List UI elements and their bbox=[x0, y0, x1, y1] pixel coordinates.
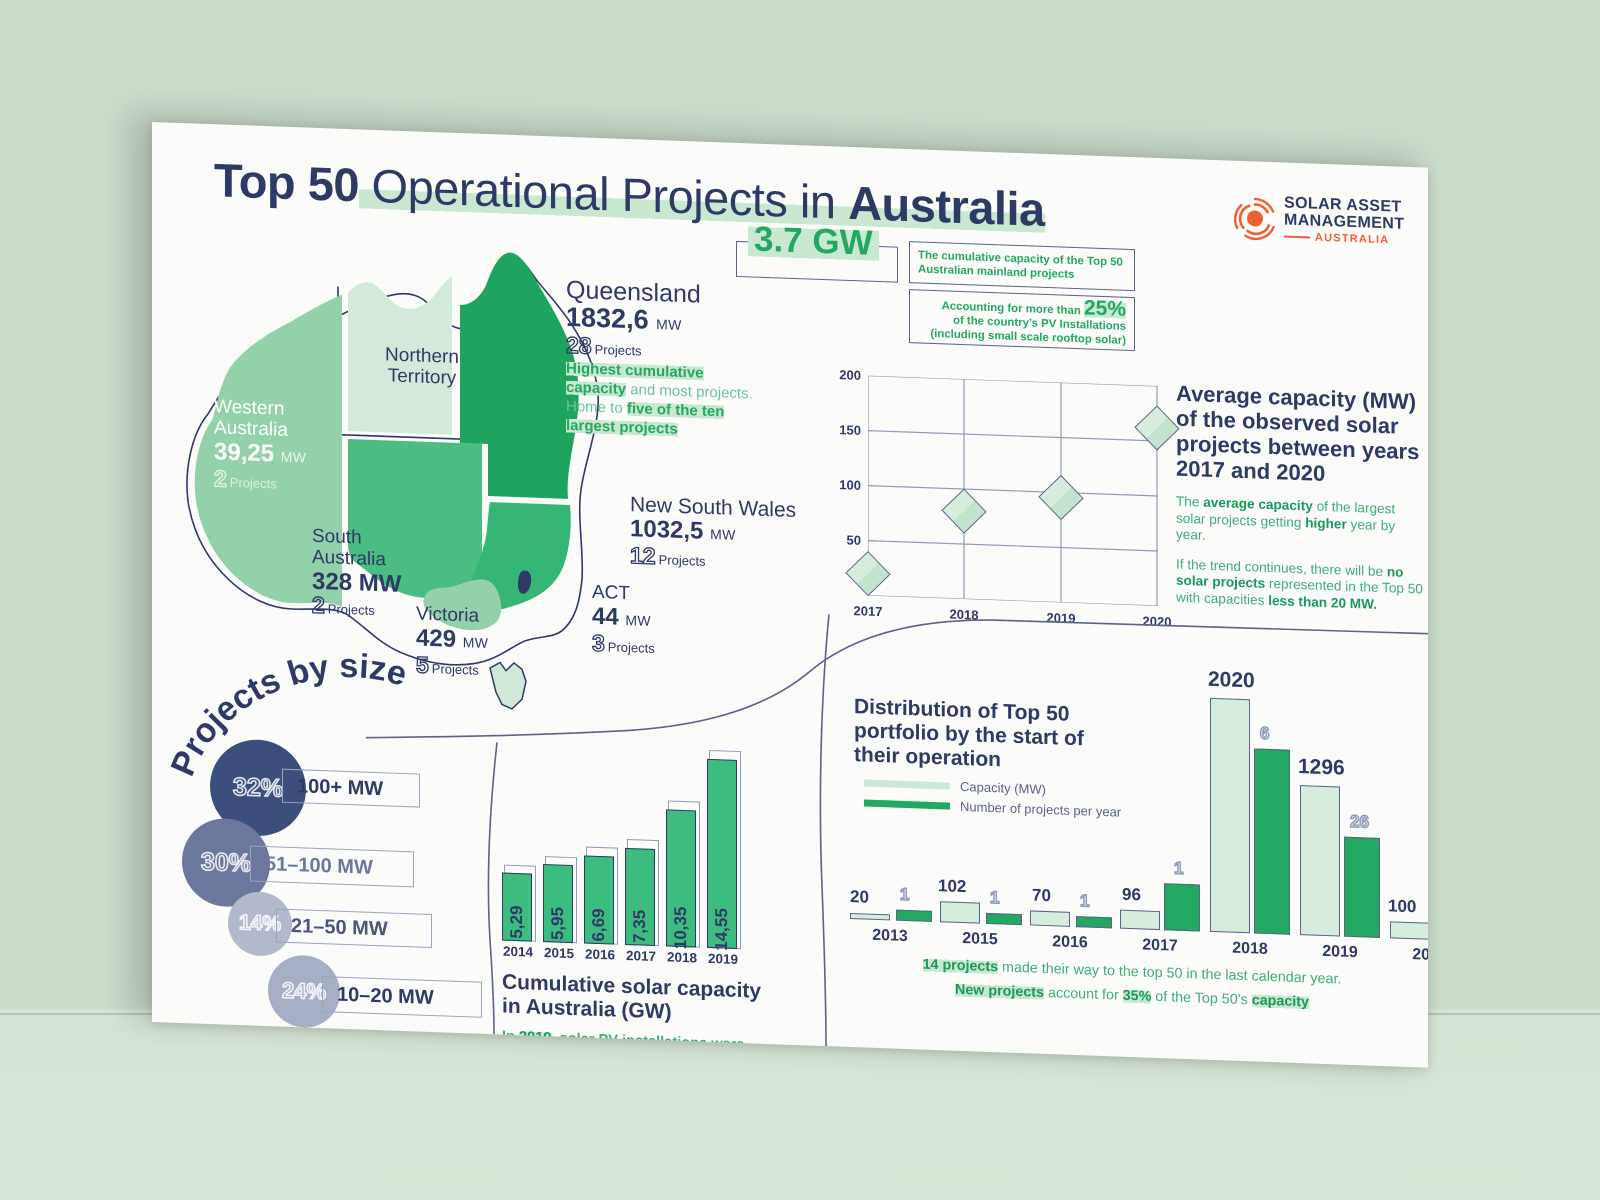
bubble-percent: 14% bbox=[239, 911, 281, 937]
y-tick-100: 100 bbox=[839, 477, 861, 493]
dist-capacity-2015: 102 bbox=[938, 876, 966, 897]
y-tick-150: 150 bbox=[839, 422, 861, 438]
state-capacity: 328 MW bbox=[312, 568, 401, 598]
bar-value: 6,69 bbox=[589, 908, 609, 942]
bar-value: 14,55 bbox=[712, 908, 732, 951]
average-capacity-scatter-chart: 200 150 100 50 2017 2018 2019 2020 bbox=[868, 376, 1158, 606]
dist-projects-2018: 6 bbox=[1260, 724, 1269, 744]
dist-group-2015: 102 1 2015 bbox=[940, 650, 1022, 925]
distribution-footer: 14 projects made their way to the top 50… bbox=[842, 953, 1422, 1022]
room-background: Top 50 Operational Projects in Australia… bbox=[0, 0, 1600, 1200]
dist-capacity-2020: 100 bbox=[1388, 896, 1416, 917]
bar-group-2016: 6,69 2016 bbox=[584, 743, 616, 944]
dist-capacity-2017: 96 bbox=[1122, 885, 1141, 906]
state-name: WesternAustralia bbox=[214, 396, 306, 441]
bubble-percent: 24% bbox=[282, 978, 326, 1006]
bar-year: 2018 bbox=[667, 949, 697, 965]
y-tick-50: 50 bbox=[847, 532, 861, 548]
x-tick-2020: 2020 bbox=[1143, 613, 1172, 629]
bar-year: 2017 bbox=[626, 948, 656, 964]
map-label-queensland: Queensland 1832,6 MW 28Projects bbox=[566, 277, 701, 364]
dist-projects-2017: 1 bbox=[1174, 859, 1183, 879]
dist-group-2020: 100 14 2020 bbox=[1390, 666, 1428, 941]
map-label-south-australia: SouthAustralia 328 MW 2Projects bbox=[312, 526, 401, 622]
dist-group-2018: 2020 6 2018 bbox=[1210, 660, 1292, 935]
state-projects: 2Projects bbox=[214, 468, 306, 495]
scatter-grid bbox=[868, 376, 1158, 606]
size-label-10-20-mw[interactable]: 10–20 MW bbox=[322, 976, 482, 1018]
brand-logo: SOLAR ASSET MANAGEMENT AUSTRALIA bbox=[1232, 191, 1412, 253]
x-tick-2017: 2017 bbox=[854, 603, 883, 619]
callout-1-text: The cumulative capacity of the Top 50 Au… bbox=[918, 248, 1134, 284]
callout-cumulative-capacity: The cumulative capacity of the Top 50 Au… bbox=[909, 241, 1135, 291]
state-capacity: 39,25 MW bbox=[214, 438, 306, 471]
cumulative-capacity-bar-chart: 5,29 2014 5,95 2015 6,69 2016 bbox=[502, 741, 752, 950]
bar-group-2014: 5,29 2014 bbox=[502, 741, 534, 942]
bubble-percent: 30% bbox=[201, 847, 251, 878]
gw-value: 3.7 GW bbox=[748, 219, 879, 264]
title-part-2: Operational Projects in bbox=[359, 158, 848, 229]
logo-line-2: MANAGEMENT bbox=[1284, 212, 1404, 233]
dist-group-2019: 1296 26 2019 bbox=[1300, 663, 1382, 938]
dist-capacity-2019: 1296 bbox=[1298, 755, 1345, 781]
callout-share-of-installations: Accounting for more than 25% of the coun… bbox=[909, 289, 1135, 351]
dist-projects-2013: 1 bbox=[900, 885, 909, 905]
state-name: NorthernTerritory bbox=[352, 343, 492, 390]
state-projects: 2Projects bbox=[312, 595, 401, 622]
map-label-western-australia: WesternAustralia 39,25 MW 2Projects bbox=[214, 396, 306, 495]
bubble-percent: 32% bbox=[233, 772, 283, 803]
bar-value: 5,95 bbox=[548, 907, 568, 941]
dist-projects-2019: 26 bbox=[1350, 812, 1369, 833]
x-tick-2019: 2019 bbox=[1047, 610, 1076, 626]
scatter-description: Average capacity (MW) of the observed so… bbox=[1176, 381, 1426, 615]
dist-year-2017: 2017 bbox=[1142, 936, 1178, 955]
state-projects: 3Projects bbox=[592, 633, 655, 659]
y-tick-200: 200 bbox=[839, 367, 861, 383]
dist-capacity-2016: 70 bbox=[1032, 885, 1051, 906]
scatter-title: Average capacity (MW) of the observed so… bbox=[1176, 381, 1426, 490]
dist-year-2019: 2019 bbox=[1322, 943, 1358, 962]
map-label-northern-territory: NorthernTerritory bbox=[352, 343, 492, 390]
state-name: Victoria bbox=[416, 603, 488, 627]
callout-2-percent: 25% bbox=[1084, 296, 1126, 321]
bar-value: 10,35 bbox=[671, 906, 691, 949]
bar-year: 2014 bbox=[503, 944, 533, 960]
dist-group-2016: 70 1 2016 bbox=[1030, 653, 1112, 928]
logo-rule bbox=[1284, 235, 1310, 239]
dist-year-2013: 2013 bbox=[872, 927, 908, 946]
dist-group-2013: 20 1 2013 bbox=[850, 647, 932, 922]
callout-2-post: of the country’s PV Installations (inclu… bbox=[930, 315, 1126, 347]
dist-year-2020: 2020 bbox=[1412, 946, 1428, 965]
map-label-victoria: Victoria 429 MW 5Projects bbox=[416, 603, 488, 681]
dist-capacity-2018: 2020 bbox=[1208, 668, 1255, 694]
map-label-new-south-wales: New South Wales 1032,5 MW 12Projects bbox=[630, 494, 796, 575]
dist-group-2017: 96 1 2017 bbox=[1120, 657, 1202, 932]
dist-year-2016: 2016 bbox=[1052, 933, 1088, 952]
bar-group-2018: 10,35 2018 bbox=[666, 746, 698, 947]
dist-year-2015: 2015 bbox=[962, 930, 998, 949]
cumulative-title: Cumulative solar capacity in Australia (… bbox=[502, 971, 774, 1029]
map-label-act: ACT 44 MW 3Projects bbox=[592, 582, 655, 659]
scatter-paragraph-2: If the trend continues, there will be no… bbox=[1176, 556, 1426, 614]
state-name: ACT bbox=[592, 582, 655, 605]
size-label-21-50-mw[interactable]: 21–50 MW bbox=[276, 908, 432, 948]
queensland-note: Highest cumulative capacity and most pro… bbox=[566, 359, 756, 442]
callout-2-text: Accounting for more than 25% of the coun… bbox=[918, 295, 1126, 347]
bar-group-2015: 5,95 2015 bbox=[543, 742, 575, 943]
solar-burst-icon bbox=[1232, 195, 1278, 243]
title-part-1: Top 50 bbox=[214, 153, 359, 211]
cumulative-paragraph: In 2019, solar PV installations were est… bbox=[502, 1028, 774, 1068]
bar-year: 2016 bbox=[585, 946, 615, 962]
bar-group-2017: 7,35 2017 bbox=[625, 745, 657, 946]
bar-year: 2019 bbox=[708, 951, 738, 967]
size-label-100-plus-mw[interactable]: 100+ MW bbox=[282, 769, 420, 808]
dist-projects-2016: 1 bbox=[1080, 891, 1089, 911]
cumulative-capacity-caption: Cumulative solar capacity in Australia (… bbox=[502, 971, 774, 1068]
distribution-bar-chart: 20 1 2013 102 1 2015 70 1 2016 bbox=[842, 647, 1422, 940]
state-name: SouthAustralia bbox=[312, 526, 401, 571]
bar-value: 5,29 bbox=[507, 905, 527, 939]
bar-year: 2015 bbox=[544, 945, 574, 961]
size-label-51-100-mw[interactable]: 51–100 MW bbox=[250, 846, 414, 888]
logo-line-3: AUSTRALIA bbox=[1315, 232, 1389, 247]
dist-year-2018: 2018 bbox=[1232, 940, 1268, 959]
dist-projects-2015: 1 bbox=[990, 888, 999, 908]
page-title: Top 50 Operational Projects in Australia bbox=[214, 152, 1045, 237]
infographic-poster: Top 50 Operational Projects in Australia… bbox=[152, 122, 1428, 1068]
x-tick-2018: 2018 bbox=[950, 607, 979, 623]
dist-capacity-2013: 20 bbox=[850, 887, 869, 908]
bar-group-2019: 14,55 2019 bbox=[707, 748, 739, 949]
bar-value: 7,35 bbox=[630, 910, 650, 944]
scatter-paragraph-1: The average capacity of the largest sola… bbox=[1176, 494, 1426, 552]
